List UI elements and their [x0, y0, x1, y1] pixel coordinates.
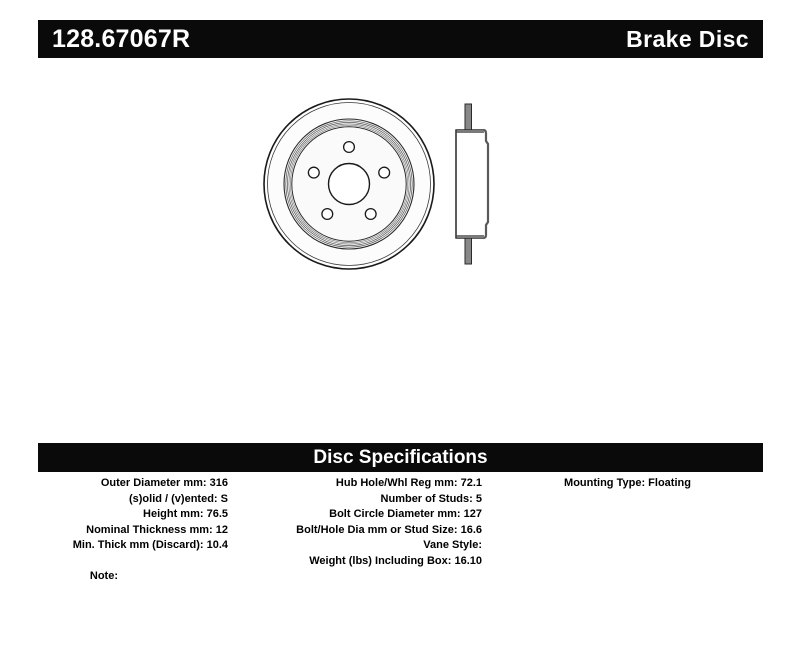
header-bar: 128.67067R Brake Disc: [38, 20, 763, 58]
spec-row: Mounting Type: Floating: [492, 476, 763, 492]
spec-column-middle: Hub Hole/Whl Reg mm: 72.1 Number of Stud…: [228, 476, 482, 569]
spec-row: Min. Thick mm (Discard): 10.4: [38, 538, 228, 554]
lug-hole: [344, 142, 355, 153]
rotor-side-profile-view: [456, 104, 488, 264]
rotor-face-view: [264, 99, 434, 269]
spec-row: Hub Hole/Whl Reg mm: 72.1: [228, 476, 482, 492]
note-label: Note:: [38, 570, 122, 582]
spec-label: Hub Hole/Whl Reg mm:: [336, 477, 458, 489]
spec-label: Number of Studs:: [381, 493, 473, 505]
spec-value: 72.1: [461, 477, 482, 489]
spec-row: (s)olid / (v)ented: S: [38, 492, 228, 508]
lug-hole: [308, 167, 319, 178]
spec-label: (s)olid / (v)ented:: [129, 493, 218, 505]
spec-label: Height mm:: [143, 508, 204, 520]
spec-row: Nominal Thickness mm: 12: [38, 523, 228, 539]
spec-label: Outer Diameter mm:: [101, 477, 207, 489]
spec-row: Outer Diameter mm: 316: [38, 476, 228, 492]
spec-label: Min. Thick mm (Discard):: [73, 539, 204, 551]
spec-value: 316: [210, 477, 228, 489]
spec-column-right: Mounting Type: Floating: [482, 476, 763, 492]
spec-label: Vane Style:: [423, 539, 482, 551]
spec-row: Bolt Circle Diameter mm: 127: [228, 507, 482, 523]
spec-column-left: Outer Diameter mm: 316 (s)olid / (v)ente…: [38, 476, 228, 554]
brake-disc-drawing-svg: [250, 92, 550, 302]
spec-value: 16.10: [454, 555, 482, 567]
top-face-shade: [456, 130, 484, 133]
spec-value: 10.4: [207, 539, 228, 551]
spec-label: Bolt/Hole Dia mm or Stud Size:: [296, 524, 457, 536]
upper-flange-stem: [465, 104, 472, 130]
spec-row: Number of Studs: 5: [228, 492, 482, 508]
lug-hole: [322, 209, 333, 220]
spec-label: Bolt Circle Diameter mm:: [329, 508, 460, 520]
product-category-title: Brake Disc: [626, 28, 749, 51]
spec-row: Bolt/Hole Dia mm or Stud Size: 16.6: [228, 523, 482, 539]
bottom-face-shade: [456, 235, 484, 238]
lug-hole: [379, 167, 390, 178]
spec-label: Nominal Thickness mm:: [86, 524, 213, 536]
spec-value: 127: [464, 508, 482, 520]
part-number: 128.67067R: [52, 27, 190, 52]
disc-cross-section: [456, 130, 488, 238]
spec-body: Outer Diameter mm: 316 (s)olid / (v)ente…: [38, 476, 763, 569]
spec-row: Height mm: 76.5: [38, 507, 228, 523]
spec-title-bar: Disc Specifications: [38, 443, 763, 472]
spec-value: 5: [476, 493, 482, 505]
spec-value: 12: [216, 524, 228, 536]
spec-label: Mounting Type:: [564, 477, 645, 489]
hub-hole: [329, 164, 370, 205]
spec-value: 16.6: [461, 524, 482, 536]
spec-label: Weight (lbs) Including Box:: [309, 555, 451, 567]
spec-value: S: [221, 493, 228, 505]
spec-value: 76.5: [207, 508, 228, 520]
note-row: Note:: [38, 570, 438, 582]
spec-value: Floating: [648, 477, 691, 489]
spec-title: Disc Specifications: [313, 448, 487, 467]
lower-flange-stem: [465, 238, 472, 264]
spec-row: Weight (lbs) Including Box: 16.10: [228, 554, 482, 570]
spec-row: Vane Style:: [228, 538, 482, 554]
lug-hole: [365, 209, 376, 220]
technical-drawing: [250, 92, 550, 302]
